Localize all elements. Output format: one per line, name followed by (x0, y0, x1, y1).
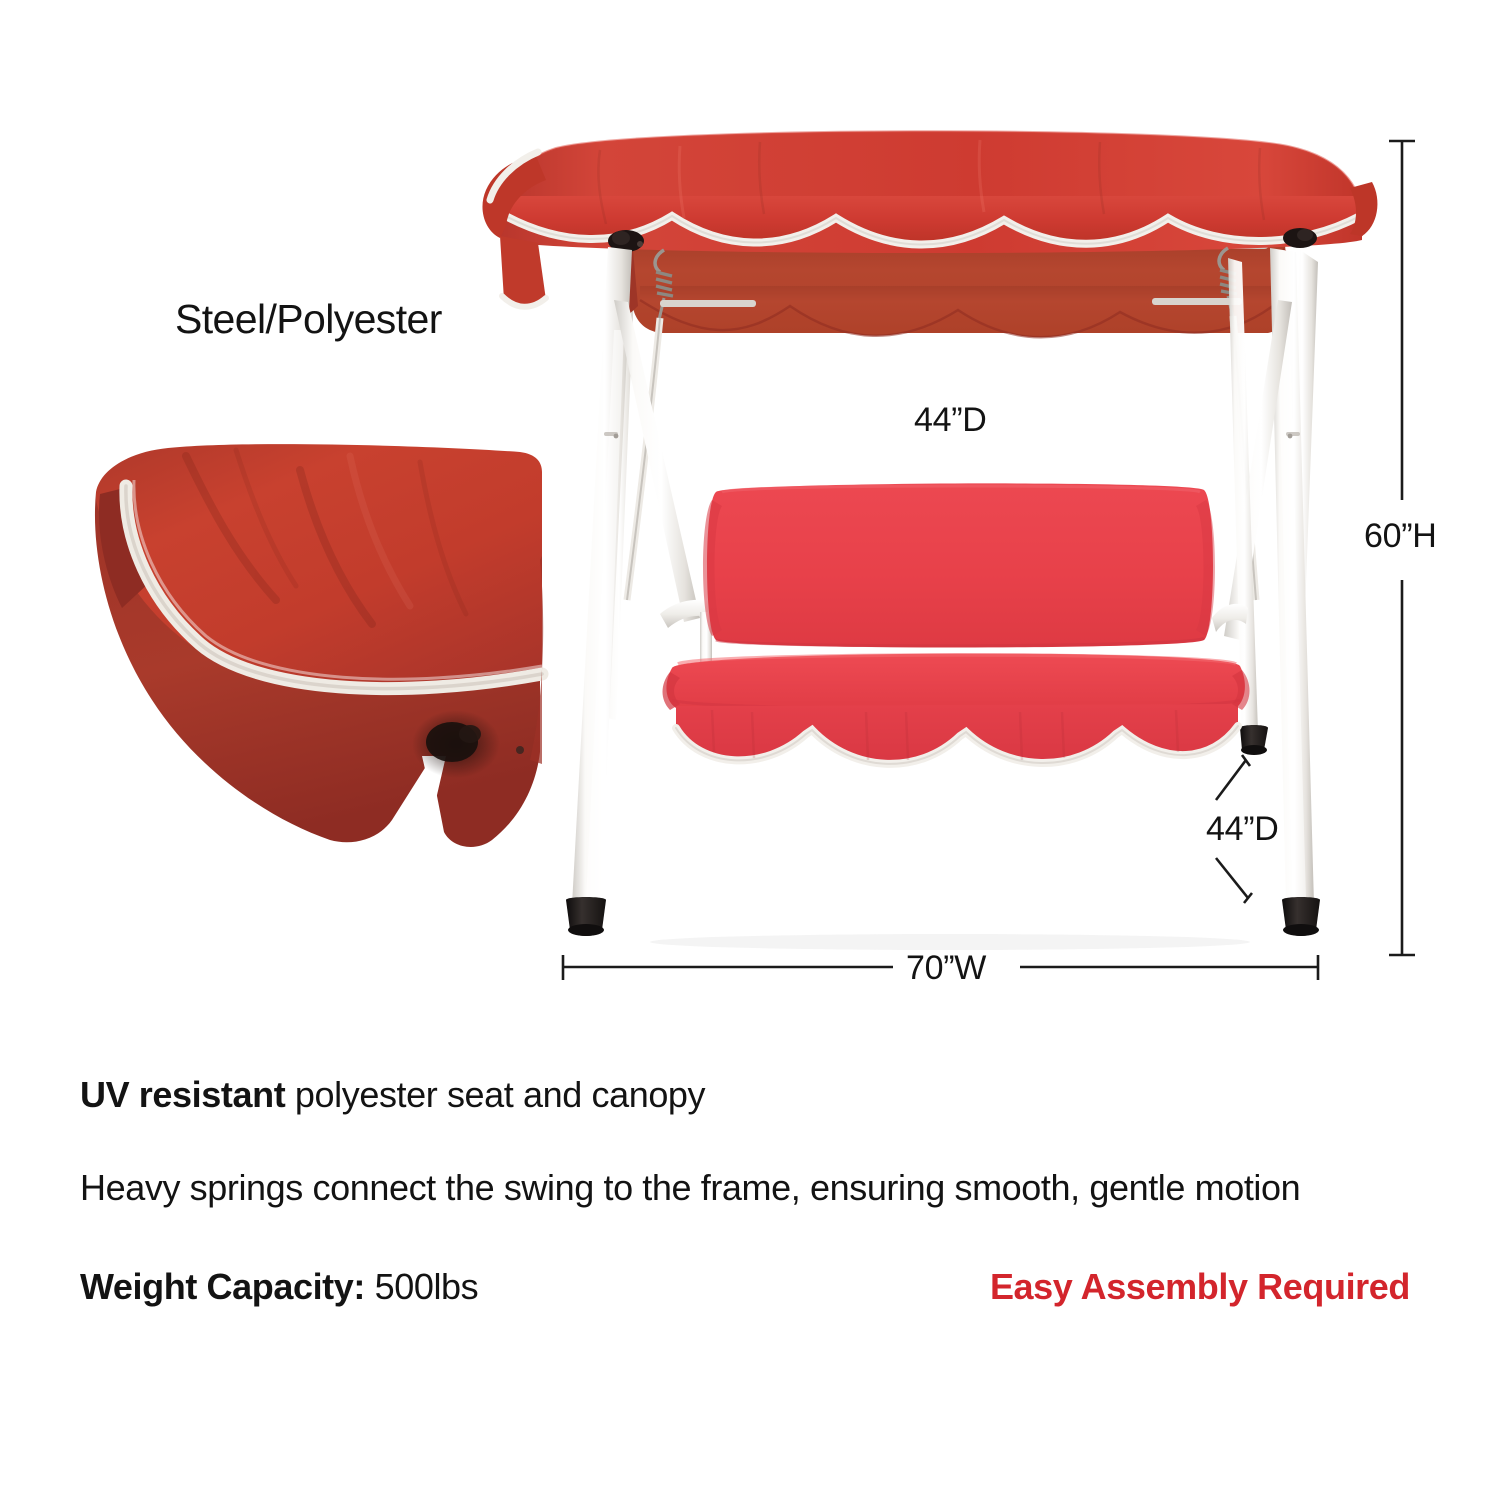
specs-list: UV resistant polyester seat and canopy H… (80, 1072, 1425, 1308)
material-label: Steel/Polyester (175, 296, 442, 343)
canopy-detail-closeup (95, 444, 543, 847)
product-infographic: Steel/Polyester 44”D 44”D 60”H 70”W UV r… (0, 0, 1500, 1500)
spec-weight-capacity-label: Weight Capacity: (80, 1266, 365, 1307)
canopy-underside (622, 243, 1296, 337)
swing-seat (663, 483, 1250, 763)
spec-weight-capacity: Weight Capacity: 500lbs (80, 1266, 478, 1308)
spec-springs: Heavy springs connect the swing to the f… (80, 1162, 1410, 1214)
spec-uv-resistant-bold: UV resistant (80, 1074, 285, 1115)
spec-weight-capacity-value: 500lbs (365, 1266, 478, 1307)
spec-uv-resistant-text: polyester seat and canopy (285, 1074, 705, 1115)
dimension-label-depth-bottom: 44”D (1206, 810, 1279, 849)
dimension-label-depth-top: 44”D (914, 401, 987, 440)
assembly-notice: Easy Assembly Required (990, 1266, 1410, 1308)
spec-bottom-row: Weight Capacity: 500lbs Easy Assembly Re… (80, 1266, 1410, 1308)
spec-uv-resistant: UV resistant polyester seat and canopy (80, 1072, 1425, 1118)
dimension-label-height: 60”H (1364, 517, 1437, 556)
dimension-label-width: 70”W (906, 949, 986, 988)
